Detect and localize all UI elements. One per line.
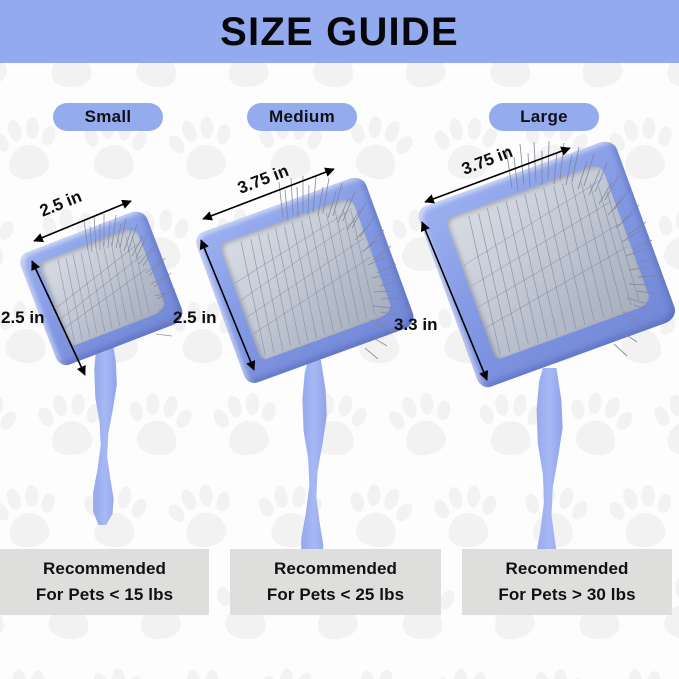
recommendation-box-large: Recommended For Pets > 30 lbs [462, 549, 672, 615]
paw-print-icon [517, 663, 592, 679]
paw-print-icon [344, 665, 415, 679]
size-badge-medium-label: Medium [269, 107, 335, 127]
recommendation-medium-line1: Recommended [274, 556, 397, 582]
recommendation-medium-line2: For Pets < 25 lbs [267, 582, 404, 608]
paw-print-icon [75, 660, 155, 679]
recommendation-box-medium: Recommended For Pets < 25 lbs [230, 549, 441, 615]
recommendation-small-line2: For Pets < 15 lbs [36, 582, 173, 608]
dimension-arrows-medium [175, 140, 435, 540]
paw-print-icon [120, 63, 198, 99]
paw-print-icon [298, 63, 372, 97]
paw-print-icon [476, 63, 546, 95]
size-guide-page: SIZE GUIDE Small Medium Large [0, 0, 679, 679]
size-badge-small-label: Small [85, 107, 132, 127]
paw-print-icon [0, 665, 62, 679]
header-banner: SIZE GUIDE [0, 0, 679, 63]
page-title: SIZE GUIDE [220, 12, 459, 52]
product-image-large-brush: 3.75 in 3.3 in [400, 130, 679, 540]
dimension-label-medium-height: 2.5 in [173, 308, 216, 328]
paw-print-icon [607, 664, 679, 679]
paw-print-icon [251, 660, 331, 679]
recommendation-box-small: Recommended For Pets < 15 lbs [0, 549, 209, 615]
paw-print-icon [37, 63, 105, 94]
paw-print-icon [211, 63, 284, 96]
size-badge-small: Small [53, 103, 163, 131]
dimension-label-large-height: 3.3 in [394, 315, 437, 335]
recommendation-large-line1: Recommended [506, 556, 629, 582]
dimension-arrows-large [400, 130, 679, 540]
paw-print-icon [0, 63, 24, 100]
product-image-medium-brush: 3.75 in 2.5 in [175, 140, 435, 540]
paw-print-icon [653, 63, 679, 94]
recommendation-small-line1: Recommended [43, 556, 166, 582]
size-badge-large-label: Large [520, 107, 568, 127]
size-badge-medium: Medium [247, 103, 357, 131]
paw-print-icon [170, 667, 236, 679]
size-badge-large: Large [489, 103, 599, 131]
dimension-label-small-height: 2.5 in [1, 308, 44, 328]
paw-print-icon [559, 63, 640, 100]
paw-print-icon [384, 63, 461, 98]
recommendation-large-line2: For Pets > 30 lbs [498, 582, 635, 608]
paw-print-icon [429, 662, 505, 679]
